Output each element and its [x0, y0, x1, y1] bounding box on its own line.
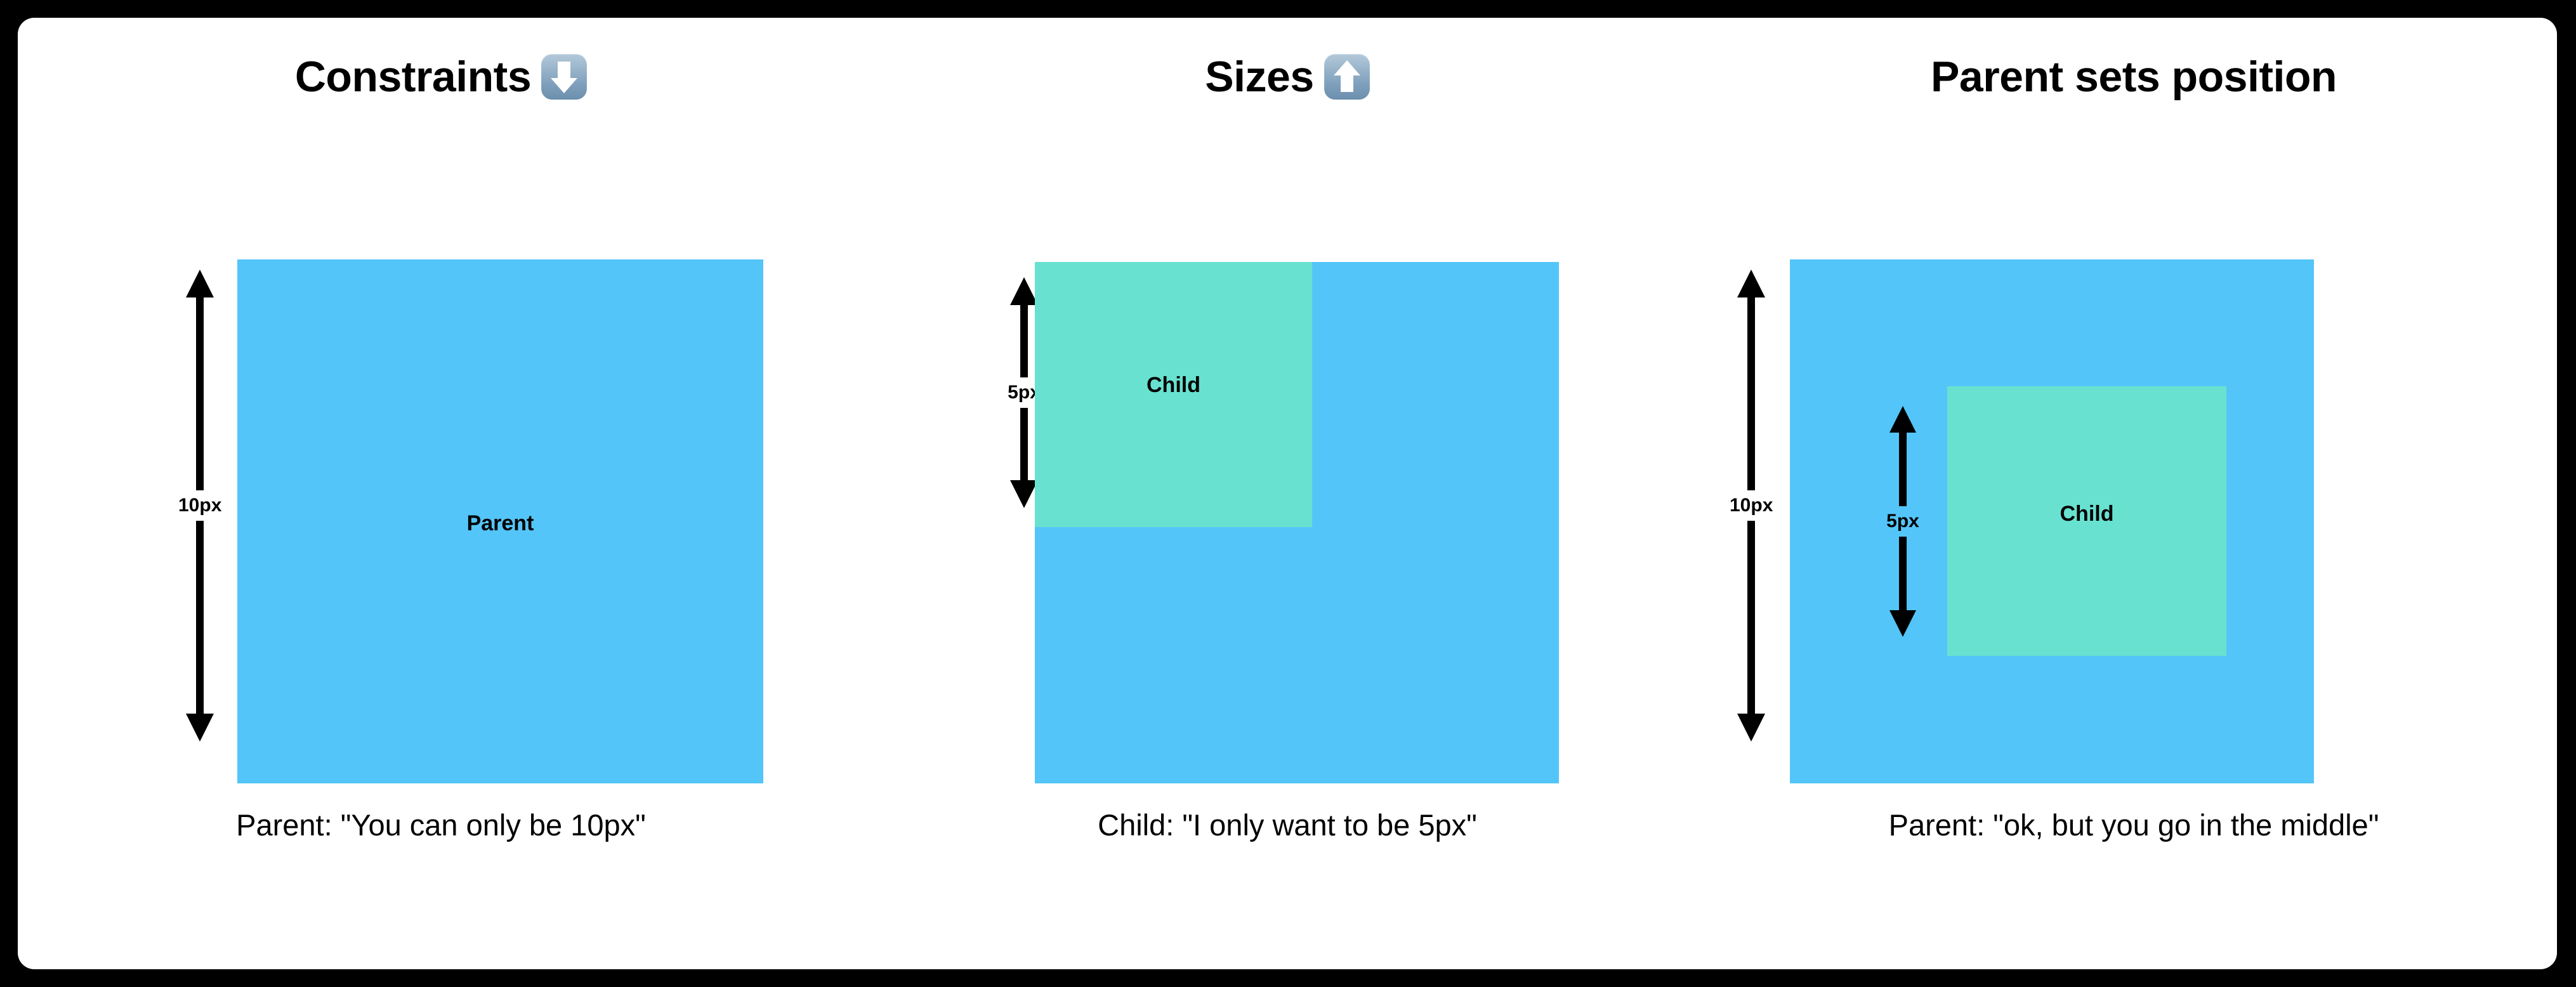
arrow-up-emoji-icon — [1324, 54, 1370, 100]
panel-title-parent-sets-position: Parent sets position — [1711, 42, 2557, 112]
panel-constraints: Constraints 10px — [18, 18, 864, 969]
dimension-label: 5px — [1886, 506, 1919, 537]
panel-caption-parent-sets-position: Parent: "ok, but you go in the middle" — [1711, 807, 2557, 842]
panel-title-text: Constraints — [295, 52, 531, 101]
arrow-up-head — [181, 268, 219, 490]
dimension-label: 10px — [178, 490, 221, 521]
diagram-stage-parent-sets-position: 10px 5px — [1711, 242, 2557, 768]
arrow-down-head — [181, 521, 219, 743]
panel-title-sizes: Sizes — [864, 42, 1711, 112]
panel-title-text: Sizes — [1205, 52, 1313, 101]
panel-container: Constraints 10px — [18, 18, 2557, 969]
child-box-label: Child — [1947, 502, 2226, 526]
arrow-down-head — [1885, 537, 1921, 638]
child-box: Child — [1947, 386, 2226, 656]
diagram-stage-sizes: 5px Child — [864, 242, 1711, 768]
arrow-up-head — [1885, 405, 1921, 506]
arrow-up-head — [1732, 268, 1770, 490]
panel-title-text: Parent sets position — [1931, 52, 2337, 101]
parent-box: Parent — [237, 259, 763, 783]
diagram-card: Constraints 10px — [18, 18, 2557, 969]
child-box-label: Child — [1035, 373, 1312, 398]
arrow-down-emoji-icon — [541, 54, 587, 100]
child-box: Child — [1035, 262, 1312, 527]
parent-box-label: Parent — [237, 511, 763, 536]
panel-parent-sets-position: Parent sets position 10px — [1711, 18, 2557, 969]
panel-caption-sizes: Child: "I only want to be 5px" — [864, 807, 1711, 842]
panel-caption-constraints: Parent: "You can only be 10px" — [18, 807, 864, 842]
dimension-10px-parent: 10px — [178, 256, 221, 755]
panel-title-constraints: Constraints — [18, 42, 864, 112]
dimension-10px-parent: 10px — [1730, 256, 1773, 755]
diagram-stage-constraints: 10px Parent — [18, 242, 864, 768]
dimension-label: 10px — [1730, 490, 1773, 521]
arrow-down-head — [1732, 521, 1770, 743]
panel-sizes: Sizes 5px — [864, 18, 1711, 969]
dimension-5px-child: 5px — [1885, 386, 1921, 656]
